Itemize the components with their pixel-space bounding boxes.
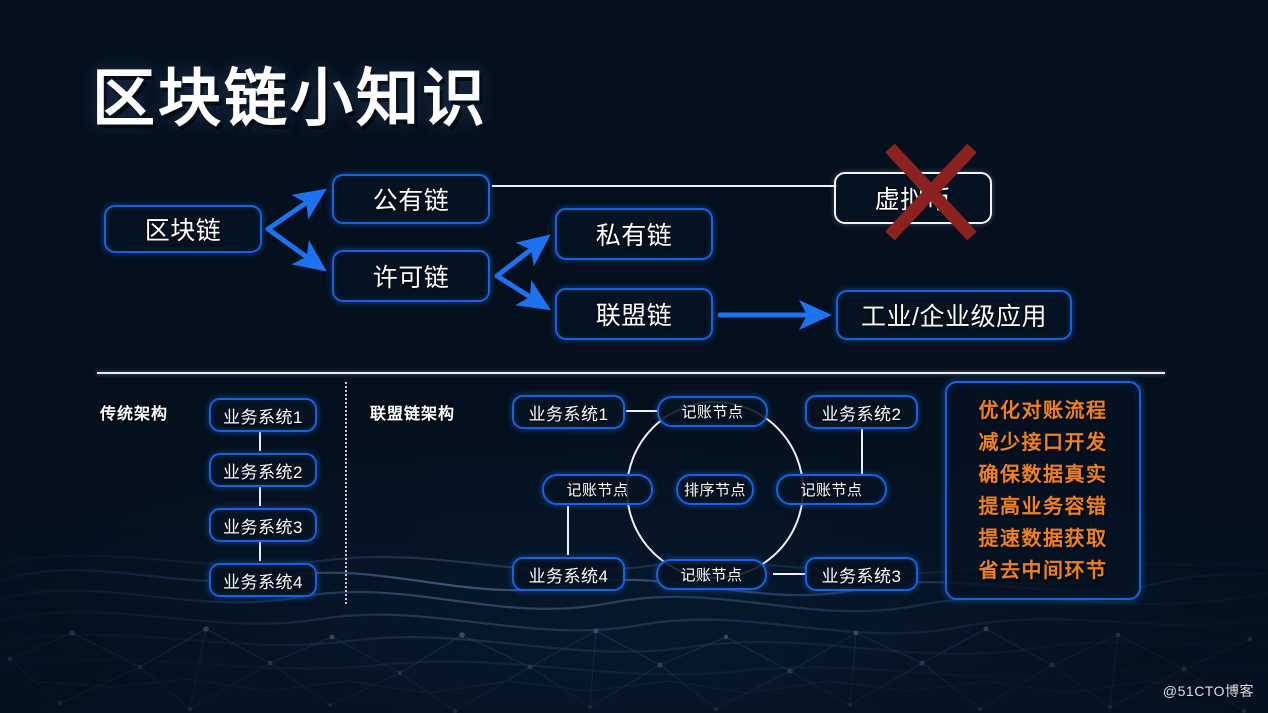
flow-node-industry-application[interactable]: 工业/企业级应用 — [836, 290, 1072, 340]
vertical-dotted-separator — [345, 382, 347, 604]
benefit-item-6: 省去中间环节 — [979, 561, 1108, 581]
traditional-item-2[interactable]: 业务系统2 — [209, 453, 317, 487]
benefit-item-4: 提高业务容错 — [979, 497, 1108, 517]
benefit-item-2: 减少接口开发 — [979, 433, 1108, 453]
traditional-item-1[interactable]: 业务系统1 — [209, 398, 317, 432]
consortium-architecture-label: 联盟链架构 — [370, 400, 455, 424]
consortium-business-system-2[interactable]: 业务系统2 — [805, 395, 918, 429]
benefit-item-1: 优化对账流程 — [979, 401, 1108, 421]
flow-node-public-chain[interactable]: 公有链 — [332, 174, 490, 224]
cross-out-x-icon — [880, 142, 984, 242]
flow-node-permissioned-chain[interactable]: 许可链 — [332, 250, 490, 302]
slide-canvas: 区块链小知识 区块链 公有链 许可链 私有链 联盟链 虚拟币 工业/企业级应用 … — [0, 0, 1268, 713]
ledger-node-top[interactable]: 记账节点 — [657, 396, 768, 427]
benefit-item-3: 确保数据真实 — [979, 465, 1108, 485]
ledger-node-right[interactable]: 记账节点 — [776, 474, 887, 505]
traditional-architecture-label: 传统架构 — [100, 400, 168, 424]
ledger-node-bottom[interactable]: 记账节点 — [656, 559, 767, 590]
ordering-node[interactable]: 排序节点 — [676, 474, 754, 505]
consortium-business-system-4[interactable]: 业务系统4 — [512, 557, 625, 591]
flow-node-private-chain[interactable]: 私有链 — [555, 208, 713, 260]
section-divider — [97, 372, 1165, 374]
ledger-node-left[interactable]: 记账节点 — [542, 474, 653, 505]
benefits-panel: 优化对账流程 减少接口开发 确保数据真实 提高业务容错 提速数据获取 省去中间环… — [945, 381, 1141, 600]
benefit-item-5: 提速数据获取 — [979, 529, 1108, 549]
flow-node-consortium-chain[interactable]: 联盟链 — [555, 288, 713, 340]
traditional-chain-connectors — [255, 430, 265, 570]
consortium-business-system-3[interactable]: 业务系统3 — [805, 557, 918, 591]
traditional-item-4[interactable]: 业务系统4 — [209, 563, 317, 597]
traditional-item-3[interactable]: 业务系统3 — [209, 508, 317, 542]
watermark: @51CTO博客 — [1163, 681, 1254, 701]
flow-node-blockchain[interactable]: 区块链 — [104, 205, 262, 253]
consortium-business-system-1[interactable]: 业务系统1 — [512, 395, 625, 429]
